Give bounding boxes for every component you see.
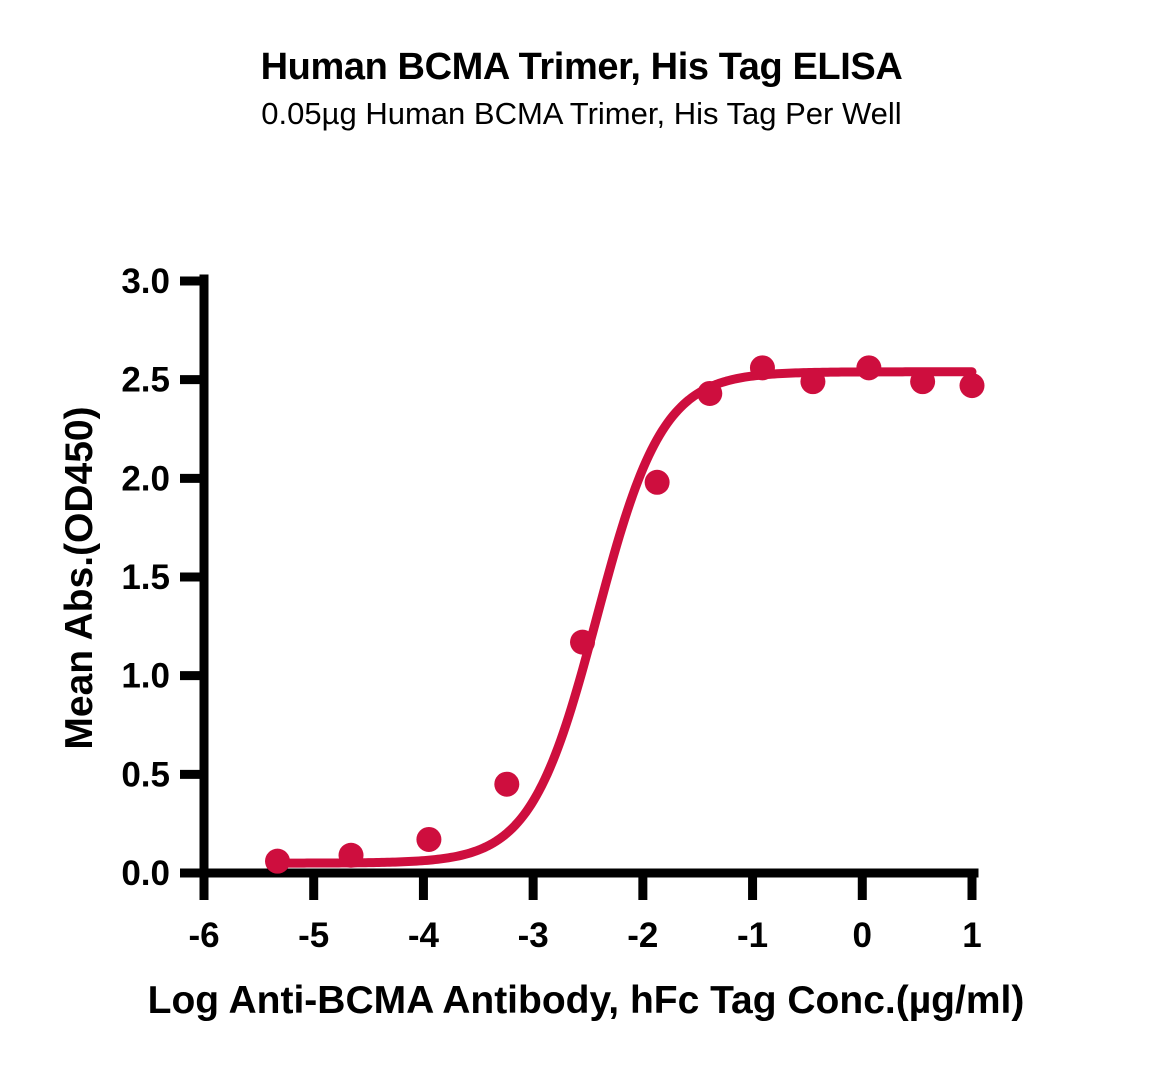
data-point [339, 843, 364, 868]
y-axis-title: Mean Abs.(OD450) [58, 406, 101, 749]
data-point [265, 849, 290, 874]
plot-svg: 0.00.51.01.52.02.53.0 -6-5-4-3-2-101 Mea… [0, 0, 1163, 1076]
y-tick-label: 3.0 [121, 262, 170, 301]
data-point [570, 630, 595, 655]
x-tick-labels: -6-5-4-3-2-101 [188, 916, 981, 955]
y-tick-label: 1.0 [121, 657, 170, 696]
y-tick-label: 2.5 [121, 361, 170, 400]
y-tick-labels: 0.00.51.01.52.02.53.0 [121, 262, 170, 893]
x-tick-label: -1 [737, 916, 768, 955]
data-point [800, 369, 825, 394]
y-tick-label: 0.0 [121, 854, 170, 893]
x-tick-label: 1 [962, 916, 981, 955]
data-point [697, 381, 722, 406]
x-tick-label: 0 [853, 916, 872, 955]
x-tick-label: -4 [408, 916, 440, 955]
data-point [416, 827, 441, 852]
data-points [265, 355, 984, 873]
data-point [856, 355, 881, 380]
data-point [910, 369, 935, 394]
plot-area: 0.00.51.01.52.02.53.0 -6-5-4-3-2-101 Mea… [0, 0, 1163, 1076]
data-point [960, 373, 985, 398]
fit-curve [278, 372, 972, 863]
data-point [645, 470, 670, 495]
y-tick-label: 1.5 [121, 558, 170, 597]
x-tick-label: -6 [188, 916, 219, 955]
y-tick-label: 2.0 [121, 459, 170, 498]
x-tick-label: -2 [627, 916, 658, 955]
x-axis-title: Log Anti-BCMA Antibody, hFc Tag Conc.(µg… [148, 979, 1025, 1022]
data-point [494, 772, 519, 797]
y-tick-label: 0.5 [121, 755, 170, 794]
data-point [750, 355, 775, 380]
x-tick-label: -5 [298, 916, 329, 955]
elisa-chart-figure: Human BCMA Trimer, His Tag ELISA 0.05µg … [0, 0, 1163, 1076]
x-tick-label: -3 [518, 916, 549, 955]
